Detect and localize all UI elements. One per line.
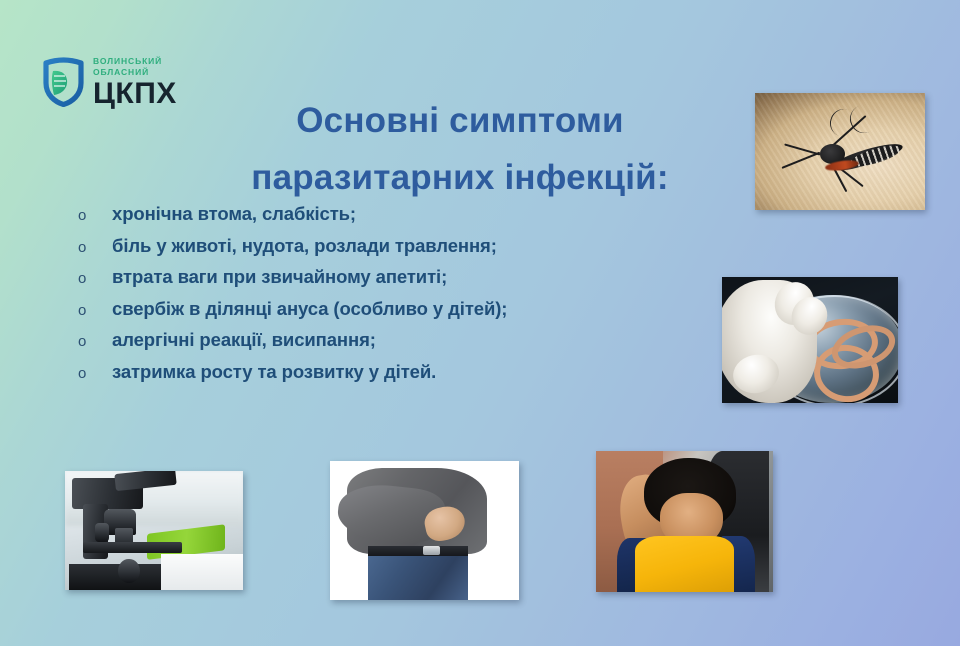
bullet-marker-icon: o <box>78 271 112 286</box>
list-item: o затримка росту та розвитку у дітей. <box>78 361 507 393</box>
list-item-label: втрата ваги при звичайному апетиті; <box>112 266 447 288</box>
list-item: o свербіж в ділянці ануса (особливо у ді… <box>78 298 507 330</box>
photo-abdominal-pain <box>330 461 519 600</box>
photo-microscope-laboratory <box>65 471 243 590</box>
bullet-marker-icon: o <box>78 366 112 381</box>
symptoms-list: o хронічна втома, слабкість; o біль у жи… <box>78 203 507 392</box>
bullet-marker-icon: o <box>78 208 112 223</box>
list-item-label: свербіж в ділянці ануса (особливо у діте… <box>112 298 507 320</box>
logo-subtitle-line2: ОБЛАСНИЙ <box>93 67 177 78</box>
slide-title: Основні симптоми паразитарних інфекцій: <box>160 93 760 206</box>
list-item-label: алергічні реакції, висипання; <box>112 329 376 351</box>
slide-canvas: ВОЛИНСЬКИЙ ОБЛАСНИЙ ЦКПХ Основні симптом… <box>0 0 960 646</box>
photo-mosquito-on-skin <box>755 93 925 210</box>
bullet-marker-icon: o <box>78 240 112 255</box>
organization-logo: ВОЛИНСЬКИЙ ОБЛАСНИЙ ЦКПХ <box>41 54 177 110</box>
slide-title-line2: паразитарних інфекцій: <box>160 150 760 207</box>
bullet-marker-icon: o <box>78 303 112 318</box>
photo-worm-in-petri-dish <box>722 277 898 403</box>
list-item: o алергічні реакції, висипання; <box>78 329 507 361</box>
bullet-marker-icon: o <box>78 334 112 349</box>
list-item-label: біль у животі, нудота, розлади травлення… <box>112 235 497 257</box>
list-item-label: затримка росту та розвитку у дітей. <box>112 361 436 383</box>
list-item: o хронічна втома, слабкість; <box>78 203 507 235</box>
slide-title-line1: Основні симптоми <box>160 93 760 150</box>
list-item: o втрата ваги при звичайному апетиті; <box>78 266 507 298</box>
list-item-label: хронічна втома, слабкість; <box>112 203 356 225</box>
list-item: o біль у животі, нудота, розлади травлен… <box>78 235 507 267</box>
logo-subtitle-line1: ВОЛИНСЬКИЙ <box>93 56 177 67</box>
shield-leaf-logo-icon <box>41 57 86 107</box>
photo-child-scratching-head <box>596 451 773 592</box>
